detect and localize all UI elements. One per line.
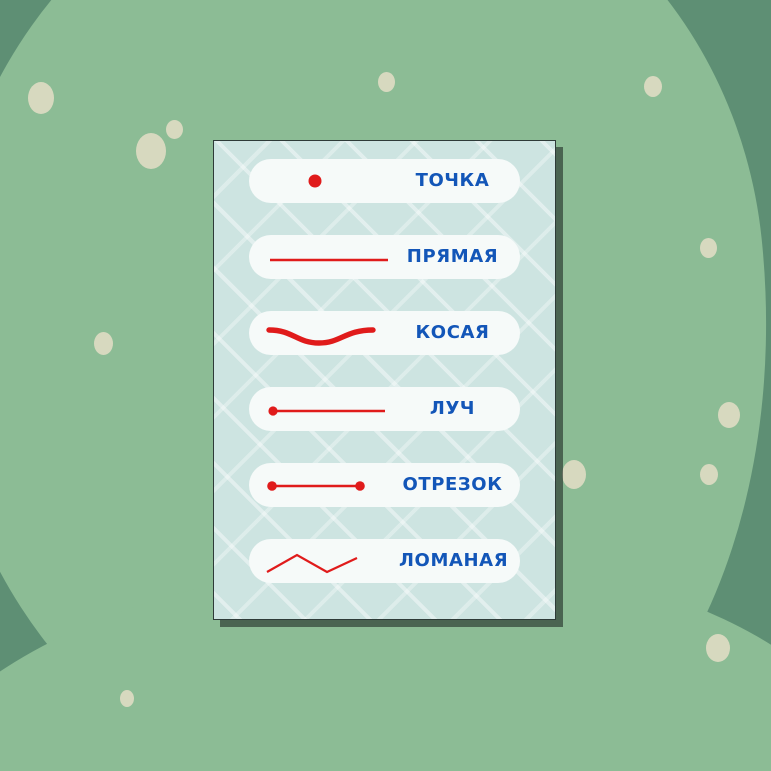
background-dot bbox=[166, 120, 183, 139]
geometry-card: ТОЧКА ПРЯМАЯ КОСАЯ bbox=[213, 140, 556, 620]
row-label-point: ТОЧКА bbox=[399, 172, 520, 190]
background-dot bbox=[136, 133, 166, 169]
row-segment[interactable]: ОТРЕЗОК bbox=[249, 463, 520, 507]
background-dot bbox=[700, 464, 718, 485]
card-row-list: ТОЧКА ПРЯМАЯ КОСАЯ bbox=[214, 141, 555, 619]
row-label-segment: ОТРЕЗОК bbox=[399, 476, 520, 494]
row-label-ray: ЛУЧ bbox=[399, 400, 520, 418]
background-dot bbox=[718, 402, 740, 428]
row-point[interactable]: ТОЧКА bbox=[249, 159, 520, 203]
curved-line-figure bbox=[249, 311, 399, 355]
background-dot bbox=[644, 76, 662, 97]
row-label-curved-line: КОСАЯ bbox=[399, 324, 520, 342]
segment-figure bbox=[249, 463, 399, 507]
polyline-figure bbox=[249, 539, 399, 583]
row-polyline[interactable]: ЛОМАНАЯ bbox=[249, 539, 520, 583]
ray-figure bbox=[249, 387, 399, 431]
background-dot bbox=[120, 690, 134, 707]
row-label-straight-line: ПРЯМАЯ bbox=[399, 248, 520, 266]
background-dot bbox=[28, 82, 54, 114]
background-dot bbox=[378, 72, 395, 92]
row-ray[interactable]: ЛУЧ bbox=[249, 387, 520, 431]
row-label-polyline: ЛОМАНАЯ bbox=[399, 552, 522, 570]
point-figure bbox=[249, 159, 399, 203]
background-dot bbox=[562, 460, 586, 489]
background-dot bbox=[700, 238, 717, 258]
background-dot bbox=[94, 332, 113, 355]
poster-canvas: ТОЧКА ПРЯМАЯ КОСАЯ bbox=[0, 0, 771, 771]
row-straight-line[interactable]: ПРЯМАЯ bbox=[249, 235, 520, 279]
straight-line-figure bbox=[249, 235, 399, 279]
row-curved-line[interactable]: КОСАЯ bbox=[249, 311, 520, 355]
background-dot bbox=[706, 634, 730, 662]
